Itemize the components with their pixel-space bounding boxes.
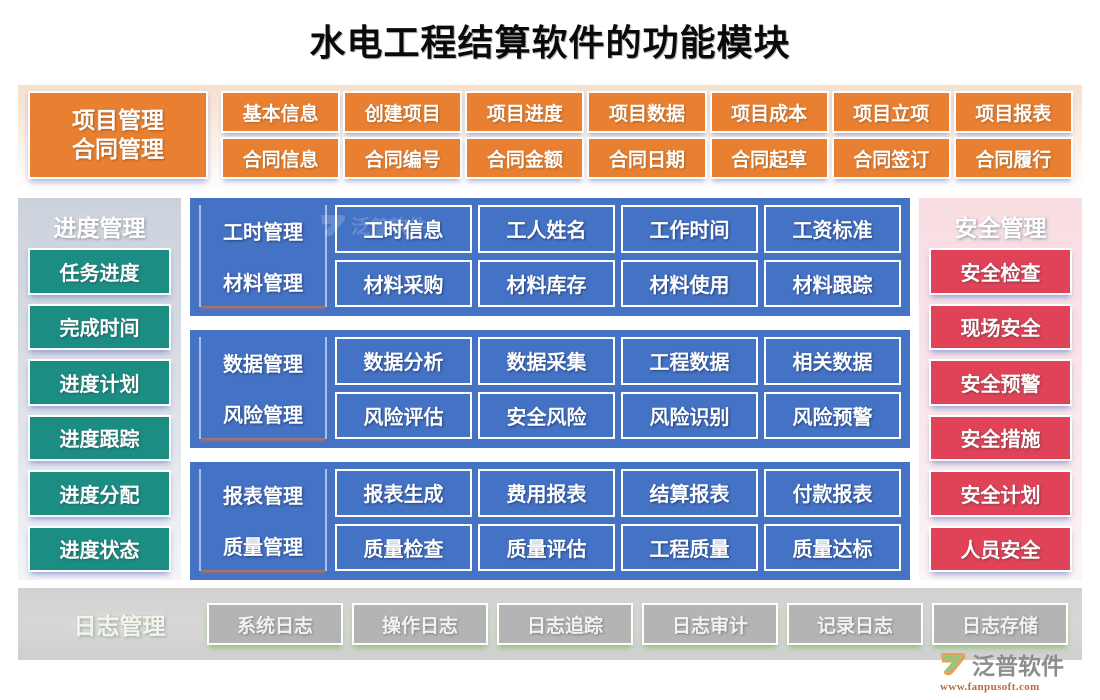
- sidebar-item-schedule-allocation[interactable]: 进度分配: [28, 470, 171, 517]
- sidebar-item-schedule-status[interactable]: 进度状态: [28, 526, 171, 573]
- quality-row: 质量检查 质量评估 工程质量 质量达标: [335, 524, 901, 572]
- labor-material-block: 泛普软件 工时管理 材料管理 工时信息 工人姓名 工作时间 工资标准 材料采购: [190, 198, 910, 316]
- brand-logo-row: 泛普软件: [938, 647, 1064, 681]
- chip-contract-info[interactable]: 合同信息: [221, 137, 340, 179]
- sidebar-item-task-progress[interactable]: 任务进度: [28, 248, 171, 295]
- report-row: 报表生成 费用报表 结算报表 付款报表: [335, 469, 901, 517]
- sidebar-item-safety-plan[interactable]: 安全计划: [929, 470, 1072, 517]
- labor-row: 工时信息 工人姓名 工作时间 工资标准: [335, 205, 901, 253]
- chip-contract-number[interactable]: 合同编号: [343, 137, 462, 179]
- report-quality-rows: 报表生成 费用报表 结算报表 付款报表 质量检查 质量评估 工程质量 质量达标: [335, 469, 901, 571]
- data-row: 数据分析 数据采集 工程数据 相关数据: [335, 337, 901, 385]
- chip-report-generation[interactable]: 报表生成: [335, 469, 472, 517]
- label-report-management[interactable]: 报表管理: [201, 469, 325, 520]
- sidebar-item-site-safety[interactable]: 现场安全: [929, 304, 1072, 351]
- chip-related-data[interactable]: 相关数据: [764, 337, 901, 385]
- data-risk-rows: 数据分析 数据采集 工程数据 相关数据 风险评估 安全风险 风险识别 风险预警: [335, 337, 901, 439]
- sidebar-item-schedule-tracking[interactable]: 进度跟踪: [28, 415, 171, 462]
- chip-risk-warning[interactable]: 风险预警: [764, 392, 901, 440]
- label-quality-management[interactable]: 质量管理: [201, 520, 325, 571]
- chip-log-audit[interactable]: 日志审计: [642, 603, 778, 645]
- chip-quality-standard[interactable]: 质量达标: [764, 524, 901, 572]
- project-contract-section: 项目管理 合同管理 基本信息 创建项目 项目进度 项目数据 项目成本 项目立项 …: [18, 85, 1082, 189]
- label-data-management[interactable]: 数据管理: [201, 337, 325, 388]
- chip-project-basic-info[interactable]: 基本信息: [221, 91, 340, 133]
- labor-material-rows: 工时信息 工人姓名 工作时间 工资标准 材料采购 材料库存 材料使用 材料跟踪: [335, 205, 901, 307]
- sidebar-item-completion-time[interactable]: 完成时间: [28, 304, 171, 351]
- center-blocks: 泛普软件 工时管理 材料管理 工时信息 工人姓名 工作时间 工资标准 材料采购: [190, 198, 910, 580]
- chip-contract-date[interactable]: 合同日期: [587, 137, 706, 179]
- chip-project-data[interactable]: 项目数据: [587, 91, 706, 133]
- contract-row: 合同信息 合同编号 合同金额 合同日期 合同起草 合同签订 合同履行: [221, 137, 1073, 179]
- diagram-canvas: 水电工程结算软件的功能模块 项目管理 合同管理 基本信息 创建项目 项目进度 项…: [0, 0, 1100, 700]
- brand-name: 泛普软件: [972, 647, 1064, 681]
- chip-contract-draft[interactable]: 合同起草: [710, 137, 829, 179]
- report-quality-block: 报表管理 质量管理 报表生成 费用报表 结算报表 付款报表 质量检查 质量评估 …: [190, 462, 910, 580]
- sidebar-item-safety-measures[interactable]: 安全措施: [929, 415, 1072, 462]
- brand-url: www.fanpusoft.com: [940, 681, 1040, 693]
- chip-material-usage[interactable]: 材料使用: [621, 260, 758, 308]
- chip-project-cost[interactable]: 项目成本: [710, 91, 829, 133]
- chip-wage-standard[interactable]: 工资标准: [764, 205, 901, 253]
- project-contract-group-label[interactable]: 项目管理 合同管理: [28, 91, 208, 179]
- sidebar-item-schedule-plan[interactable]: 进度计划: [28, 359, 171, 406]
- chip-log-storage[interactable]: 日志存储: [932, 603, 1068, 645]
- middle-region: 进度管理 任务进度 完成时间 进度计划 进度跟踪 进度分配 进度状态 泛普软件 …: [18, 198, 1082, 580]
- sidebar-item-personnel-safety[interactable]: 人员安全: [929, 526, 1072, 573]
- schedule-panel-heading: 进度管理: [28, 204, 171, 248]
- chip-worker-name[interactable]: 工人姓名: [478, 205, 615, 253]
- log-management-section: 日志管理 系统日志 操作日志 日志追踪 日志审计 记录日志 日志存储: [18, 588, 1082, 660]
- chip-expense-report[interactable]: 费用报表: [478, 469, 615, 517]
- group-label-project: 项目管理: [72, 106, 164, 135]
- data-risk-labels: 数据管理 风险管理: [199, 337, 327, 439]
- chip-risk-assessment[interactable]: 风险评估: [335, 392, 472, 440]
- chip-engineering-data[interactable]: 工程数据: [621, 337, 758, 385]
- label-material-management[interactable]: 材料管理: [201, 256, 325, 307]
- chip-project-report[interactable]: 项目报表: [954, 91, 1073, 133]
- project-row: 基本信息 创建项目 项目进度 项目数据 项目成本 项目立项 项目报表: [221, 91, 1073, 133]
- label-labor-management[interactable]: 工时管理: [201, 205, 325, 256]
- chip-system-log[interactable]: 系统日志: [207, 603, 343, 645]
- sidebar-item-safety-inspection[interactable]: 安全检查: [929, 248, 1072, 295]
- chip-data-analysis[interactable]: 数据分析: [335, 337, 472, 385]
- material-row: 材料采购 材料库存 材料使用 材料跟踪: [335, 260, 901, 308]
- chip-material-tracking[interactable]: 材料跟踪: [764, 260, 901, 308]
- chip-project-initiation[interactable]: 项目立项: [832, 91, 951, 133]
- chip-quality-inspection[interactable]: 质量检查: [335, 524, 472, 572]
- chip-work-time[interactable]: 工作时间: [621, 205, 758, 253]
- page-title: 水电工程结算软件的功能模块: [0, 14, 1100, 66]
- chip-contract-amount[interactable]: 合同金额: [465, 137, 584, 179]
- chip-labor-info[interactable]: 工时信息: [335, 205, 472, 253]
- brand-logo: 泛普软件 www.fanpusoft.com: [938, 646, 1090, 694]
- risk-row: 风险评估 安全风险 风险识别 风险预警: [335, 392, 901, 440]
- chip-record-log[interactable]: 记录日志: [787, 603, 923, 645]
- chip-operation-log[interactable]: 操作日志: [352, 603, 488, 645]
- fanpu-logo-icon: [938, 650, 968, 678]
- chip-data-collection[interactable]: 数据采集: [478, 337, 615, 385]
- chip-project-create[interactable]: 创建项目: [343, 91, 462, 133]
- chip-project-progress[interactable]: 项目进度: [465, 91, 584, 133]
- safety-panel-heading: 安全管理: [929, 204, 1072, 248]
- chip-contract-perform[interactable]: 合同履行: [954, 137, 1073, 179]
- chip-material-inventory[interactable]: 材料库存: [478, 260, 615, 308]
- chip-settlement-report[interactable]: 结算报表: [621, 469, 758, 517]
- schedule-management-panel: 进度管理 任务进度 完成时间 进度计划 进度跟踪 进度分配 进度状态: [18, 198, 181, 580]
- chip-material-purchase[interactable]: 材料采购: [335, 260, 472, 308]
- chip-contract-sign[interactable]: 合同签订: [832, 137, 951, 179]
- chip-payment-report[interactable]: 付款报表: [764, 469, 901, 517]
- labor-material-labels: 工时管理 材料管理: [199, 205, 327, 307]
- report-quality-labels: 报表管理 质量管理: [199, 469, 327, 571]
- chip-quality-evaluation[interactable]: 质量评估: [478, 524, 615, 572]
- chip-log-tracking[interactable]: 日志追踪: [497, 603, 633, 645]
- log-grid: 系统日志 操作日志 日志追踪 日志审计 记录日志 日志存储: [207, 603, 1068, 645]
- group-label-contract: 合同管理: [72, 135, 164, 164]
- chip-safety-risk[interactable]: 安全风险: [478, 392, 615, 440]
- sidebar-item-safety-warning[interactable]: 安全预警: [929, 359, 1072, 406]
- safety-management-panel: 安全管理 安全检查 现场安全 安全预警 安全措施 安全计划 人员安全: [919, 198, 1082, 580]
- chip-risk-identification[interactable]: 风险识别: [621, 392, 758, 440]
- log-panel-heading: 日志管理: [32, 607, 207, 641]
- project-contract-grid: 基本信息 创建项目 项目进度 项目数据 项目成本 项目立项 项目报表 合同信息 …: [221, 91, 1073, 179]
- label-risk-management[interactable]: 风险管理: [201, 388, 325, 439]
- chip-engineering-quality[interactable]: 工程质量: [621, 524, 758, 572]
- data-risk-block: 数据管理 风险管理 数据分析 数据采集 工程数据 相关数据 风险评估 安全风险 …: [190, 330, 910, 448]
